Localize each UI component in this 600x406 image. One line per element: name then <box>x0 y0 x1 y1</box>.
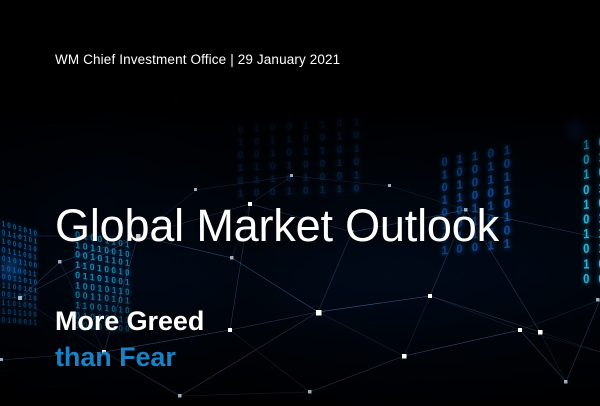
background-binary-columns-center: 0 1 0 0 1 1 0 1 1 0 1 1 0 0 1 0 0 0 1 0 … <box>238 116 364 201</box>
tagline-line-secondary: than Fear <box>55 339 204 375</box>
tagline-line-primary: More Greed <box>55 303 204 339</box>
slide-header-meta: WM Chief Investment Office | 29 January … <box>55 52 340 67</box>
page-title: Global Market Outlook <box>55 200 499 252</box>
presentation-slide: 0 1 0 0 1 1 0 1 1 0 1 1 0 0 1 0 0 0 1 0 … <box>0 0 600 406</box>
slide-tagline: More Greed than Fear <box>55 303 204 376</box>
background-binary-columns-right: 1 0 1 0 0 1 1 0 1 0 1 0 0 1 0 1 1 0 1 0 … <box>583 126 600 288</box>
background-binary-columns-left: 1011001010 0100110101 1101000110 0010111… <box>0 214 39 327</box>
